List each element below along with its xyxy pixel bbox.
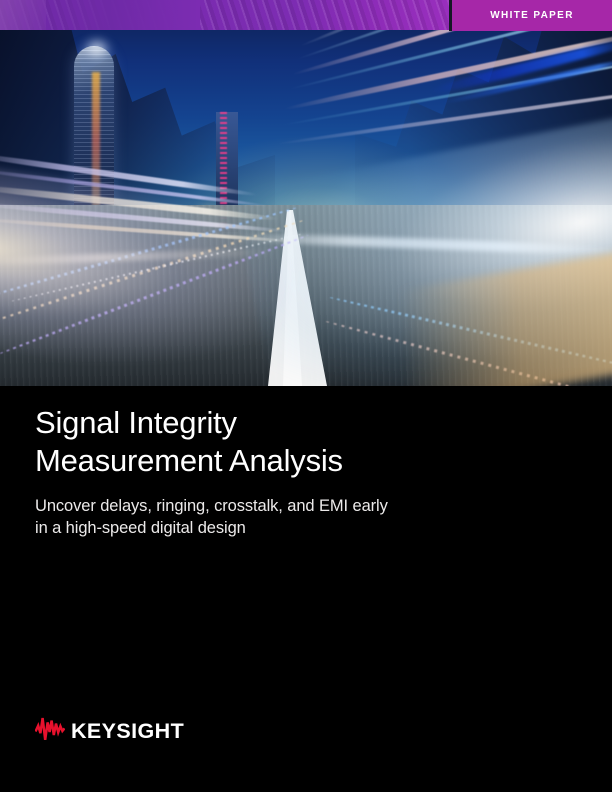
white-paper-badge-label: WHITE PAPER	[490, 11, 574, 21]
page-subtitle: Uncover delays, ringing, crosstalk, and …	[35, 495, 555, 539]
badge-divider	[449, 0, 452, 31]
band-left-tint	[0, 0, 46, 30]
page-title: Signal Integrity Measurement Analysis	[35, 404, 555, 480]
keysight-logo: KEYSIGHT	[35, 716, 184, 747]
hero-image: WHITE PAPER	[0, 0, 612, 386]
keysight-waveform-icon	[35, 716, 65, 747]
white-paper-badge: WHITE PAPER	[452, 0, 612, 31]
cover-text-block: Signal Integrity Measurement Analysis Un…	[35, 404, 555, 539]
white-paper-cover-page: WHITE PAPER Signal Integrity Measurement…	[0, 0, 612, 792]
keysight-wordmark: KEYSIGHT	[71, 721, 184, 743]
